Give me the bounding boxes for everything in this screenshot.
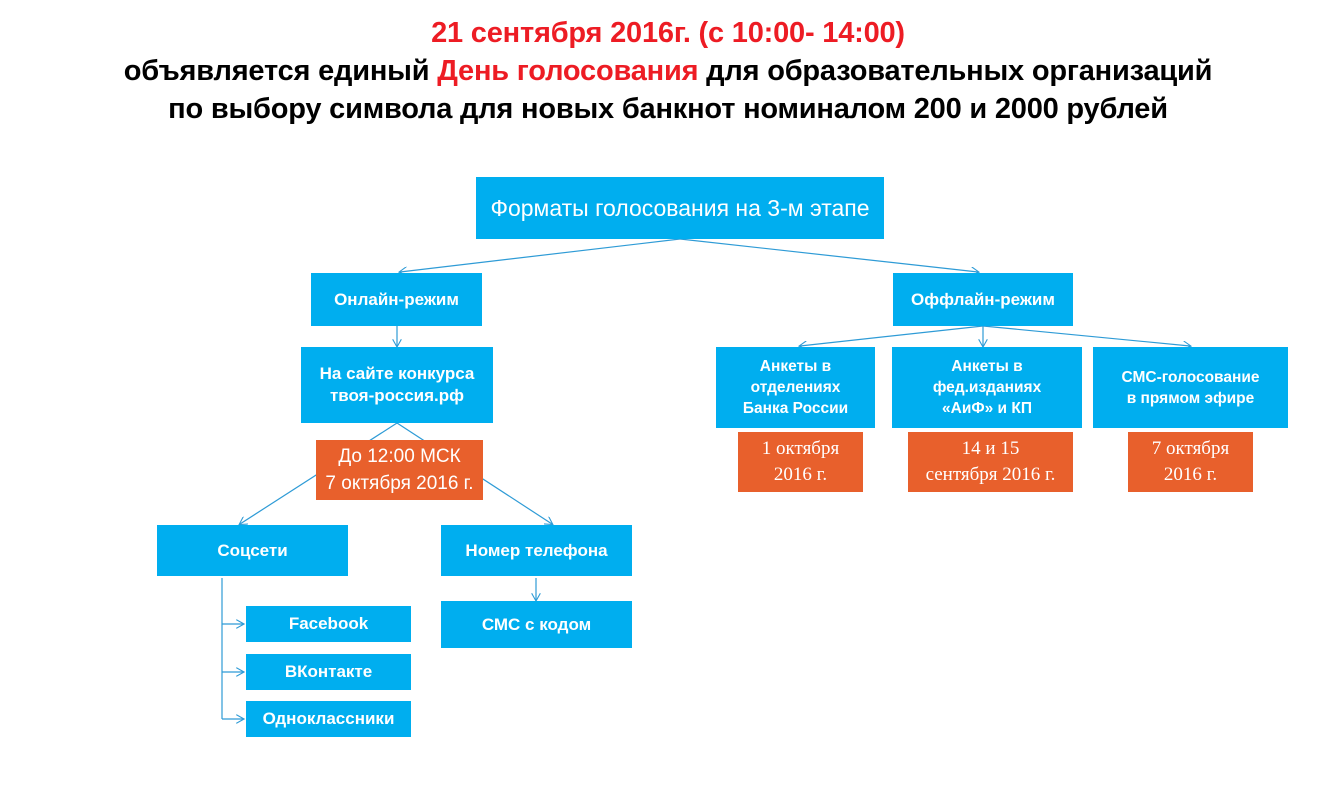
node-social-vkontakte[interactable]: ВКонтакте	[246, 654, 411, 690]
node-phone-number[interactable]: Номер телефона	[441, 525, 632, 576]
node-sms-code-label: СМС с кодом	[447, 614, 626, 636]
node-social-facebook[interactable]: Facebook	[246, 606, 411, 642]
slide-canvas: 21 сентября 2016г. (с 10:00- 14:00) объя…	[0, 0, 1336, 790]
node-offline-date-sms-label: 7 октября 2016 г.	[1134, 436, 1247, 488]
node-contest-site-label: На сайте конкурса твоя-россия.рф	[307, 363, 487, 407]
node-offline-date-bank[interactable]: 1 октября 2016 г.	[738, 432, 863, 492]
title-announcement-suffix: для образовательных организаций	[698, 55, 1212, 87]
node-social-networks[interactable]: Соцсети	[157, 525, 348, 576]
node-social-networks-label: Соцсети	[163, 540, 342, 562]
title-line-announcement: объявляется единый День голосования для …	[0, 52, 1336, 90]
node-social-facebook-label: Facebook	[252, 613, 405, 635]
node-social-odnoklassniki[interactable]: Одноклассники	[246, 701, 411, 737]
title-announcement-highlight: День голосования	[437, 55, 698, 87]
node-offline-channel-sms[interactable]: СМС-голосование в прямом эфире	[1093, 347, 1288, 428]
title-line-date: 21 сентября 2016г. (с 10:00- 14:00)	[0, 14, 1336, 52]
node-social-vkontakte-label: ВКонтакте	[252, 661, 405, 683]
node-offline-channel-bank[interactable]: Анкеты в отделениях Банка России	[716, 347, 875, 428]
node-offline-channel-bank-label: Анкеты в отделениях Банка России	[722, 356, 869, 419]
node-site-deadline[interactable]: До 12:00 МСК 7 октября 2016 г.	[316, 440, 483, 500]
title-line-purpose: по выбору символа для новых банкнот номи…	[0, 90, 1336, 128]
node-offline-mode[interactable]: Оффлайн-режим	[893, 273, 1073, 326]
node-site-deadline-label: До 12:00 МСК 7 октября 2016 г.	[322, 443, 477, 497]
node-root-label: Форматы голосования на 3-м этапе	[482, 194, 878, 222]
node-offline-date-press-label: 14 и 15 сентября 2016 г.	[914, 436, 1067, 488]
node-offline-date-sms[interactable]: 7 октября 2016 г.	[1128, 432, 1253, 492]
node-offline-date-bank-label: 1 октября 2016 г.	[744, 436, 857, 488]
title-announcement-prefix: объявляется единый	[124, 55, 438, 87]
node-offline-channel-press[interactable]: Анкеты в фед.изданиях «АиФ» и КП	[892, 347, 1082, 428]
node-root[interactable]: Форматы голосования на 3-м этапе	[476, 177, 884, 239]
node-sms-code[interactable]: СМС с кодом	[441, 601, 632, 648]
node-phone-number-label: Номер телефона	[447, 540, 626, 562]
node-offline-channel-press-label: Анкеты в фед.изданиях «АиФ» и КП	[898, 356, 1076, 419]
node-online-mode-label: Онлайн-режим	[317, 289, 476, 311]
node-offline-channel-sms-label: СМС-голосование в прямом эфире	[1099, 367, 1282, 409]
node-offline-date-press[interactable]: 14 и 15 сентября 2016 г.	[908, 432, 1073, 492]
node-social-odnoklassniki-label: Одноклассники	[252, 708, 405, 730]
node-online-mode[interactable]: Онлайн-режим	[311, 273, 482, 326]
page-title: 21 сентября 2016г. (с 10:00- 14:00) объя…	[0, 14, 1336, 128]
node-offline-mode-label: Оффлайн-режим	[899, 289, 1067, 311]
node-contest-site[interactable]: На сайте конкурса твоя-россия.рф	[301, 347, 493, 423]
